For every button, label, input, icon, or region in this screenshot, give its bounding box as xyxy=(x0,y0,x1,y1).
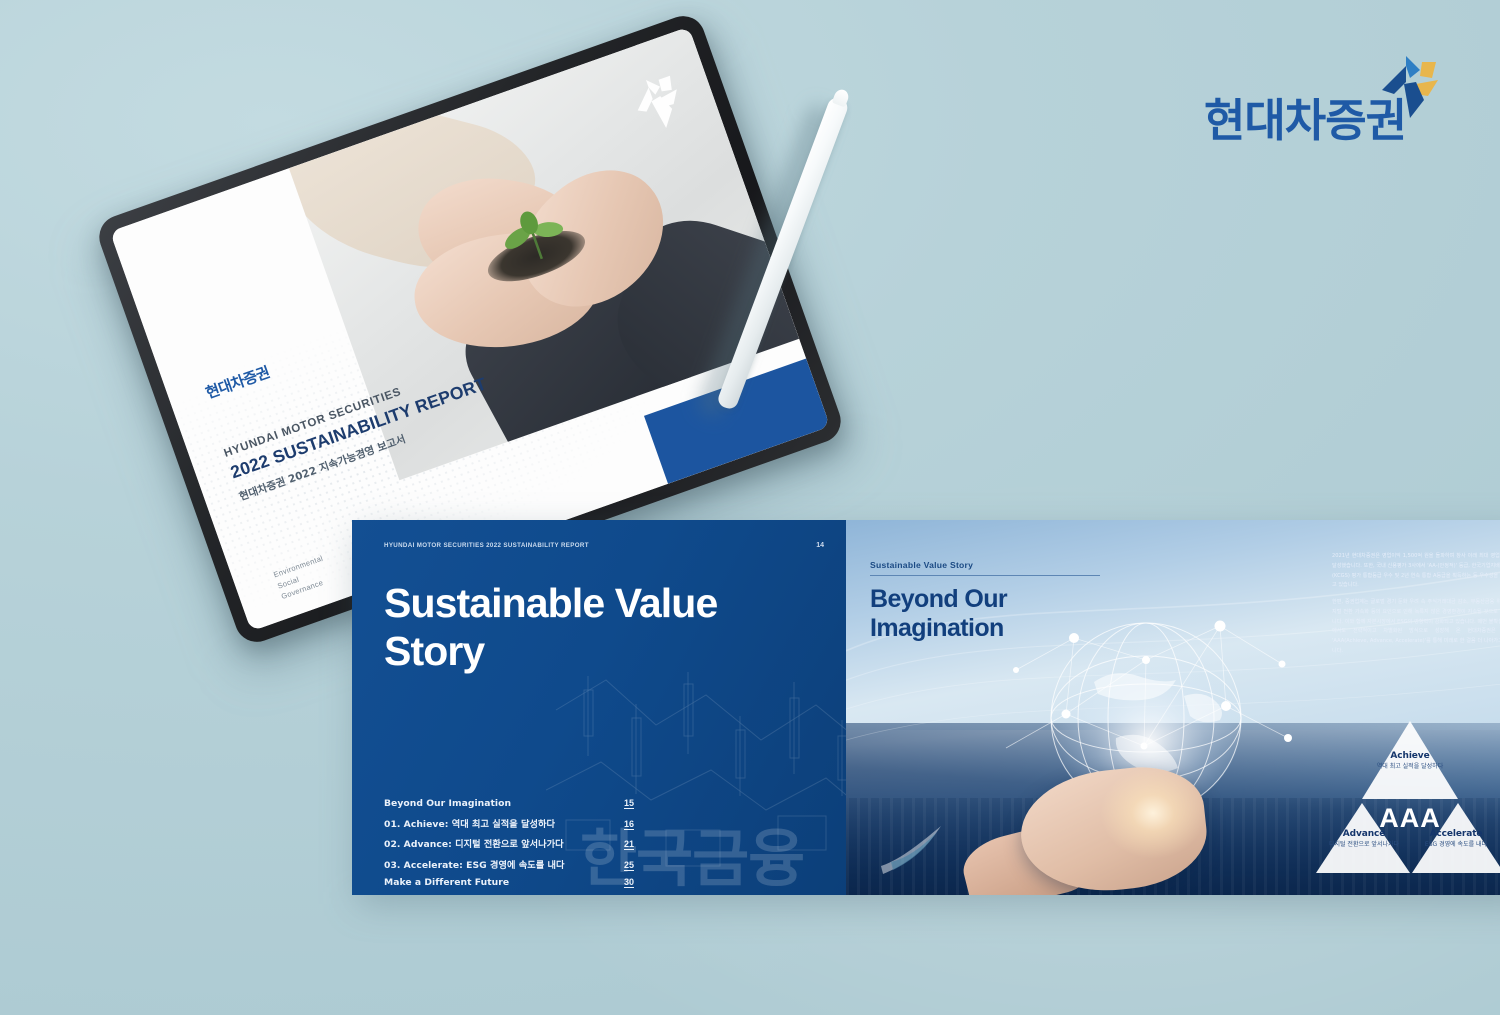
scene: 현대차증권 xyxy=(0,0,1500,1015)
left-page-header: HYUNDAI MOTOR SECURITIES 2022 Sustainabi… xyxy=(384,542,824,549)
node-name: Accelerate xyxy=(1362,829,1500,839)
hyundai-star-mark-icon xyxy=(624,71,690,137)
toc-page: 30 xyxy=(624,877,634,887)
toc-page: 16 xyxy=(624,819,634,829)
triangle-node-achieve: Achieve 역대 최고 실적을 달성하다 xyxy=(1316,751,1500,772)
toc-row[interactable]: 03. Accelerate: ESG 경영에 속도를 내다 25 xyxy=(384,857,634,871)
left-page-running-head: HYUNDAI MOTOR SECURITIES 2022 Sustainabi… xyxy=(384,542,589,549)
brochure-right-page: 15 Sustainable Value Story Beyond Our Im… xyxy=(846,520,1500,895)
brand-logo: 현대차증권 xyxy=(1204,56,1440,152)
triangle-node-accelerate: Accelerate ESG 경영에 속도를 내다 xyxy=(1362,829,1500,850)
brochure-spread: HYUNDAI MOTOR SECURITIES 2022 Sustainabi… xyxy=(352,520,1500,895)
right-title-line-1: Beyond Our xyxy=(870,585,1100,614)
toc-row[interactable]: Beyond Our Imagination 15 xyxy=(384,798,634,809)
toc-page: 21 xyxy=(624,839,634,849)
toc-page: 25 xyxy=(624,860,634,870)
triangle-shapes-icon xyxy=(1316,717,1500,877)
right-page-body-copy: 2021년 현대차증권은 영업이익 1,500억 원을 돌파하며 창사 이래 최… xyxy=(1332,552,1500,664)
node-name: Achieve xyxy=(1316,751,1500,761)
node-desc: 역대 최고 실적을 달성하다 xyxy=(1316,763,1500,772)
toc-label: Make a Different Future xyxy=(384,877,509,888)
toc-page: 15 xyxy=(624,798,634,808)
right-title-line-2: Imagination xyxy=(870,614,1100,643)
toc-label: 01. Achieve: 역대 최고 실적을 달성하다 xyxy=(384,816,555,830)
toc-row[interactable]: 01. Achieve: 역대 최고 실적을 달성하다 16 xyxy=(384,816,634,830)
left-title-line-2: Story xyxy=(384,628,717,676)
left-page-number: 14 xyxy=(816,542,824,549)
toc-label: 02. Advance: 디지털 전환으로 앞서나가다 xyxy=(384,836,564,850)
left-title-line-1: Sustainable Value xyxy=(384,580,717,628)
right-page-eyebrow: Sustainable Value Story xyxy=(870,560,1100,576)
body-paragraph: 한편, 증권업계는 글로벌 경기 둔화 우려 속 주식거래대금 감소, 부동산금… xyxy=(1332,598,1500,657)
aaa-triangle-diagram: AAA Achieve 역대 최고 실적을 달성하다 Advance 디지털 전… xyxy=(1316,717,1500,877)
brochure-left-page: HYUNDAI MOTOR SECURITIES 2022 Sustainabi… xyxy=(352,520,846,895)
right-page-title: Beyond Our Imagination xyxy=(870,585,1100,642)
table-of-contents: Beyond Our Imagination 15 01. Achieve: 역… xyxy=(384,798,634,895)
right-page-heading: Sustainable Value Story Beyond Our Imagi… xyxy=(870,560,1100,642)
toc-label: Beyond Our Imagination xyxy=(384,798,511,809)
toc-row[interactable]: Make a Different Future 30 xyxy=(384,877,634,888)
node-desc: ESG 경영에 속도를 내다 xyxy=(1362,841,1500,850)
brand-logo-text: 현대차증권 xyxy=(1204,84,1406,149)
body-paragraph: 2021년 현대차증권은 영업이익 1,500억 원을 돌파하며 창사 이래 최… xyxy=(1332,552,1500,591)
left-page-title: Sustainable Value Story xyxy=(384,580,717,675)
toc-label: 03. Accelerate: ESG 경영에 속도를 내다 xyxy=(384,857,564,871)
toc-row[interactable]: 02. Advance: 디지털 전환으로 앞서나가다 21 xyxy=(384,836,634,850)
